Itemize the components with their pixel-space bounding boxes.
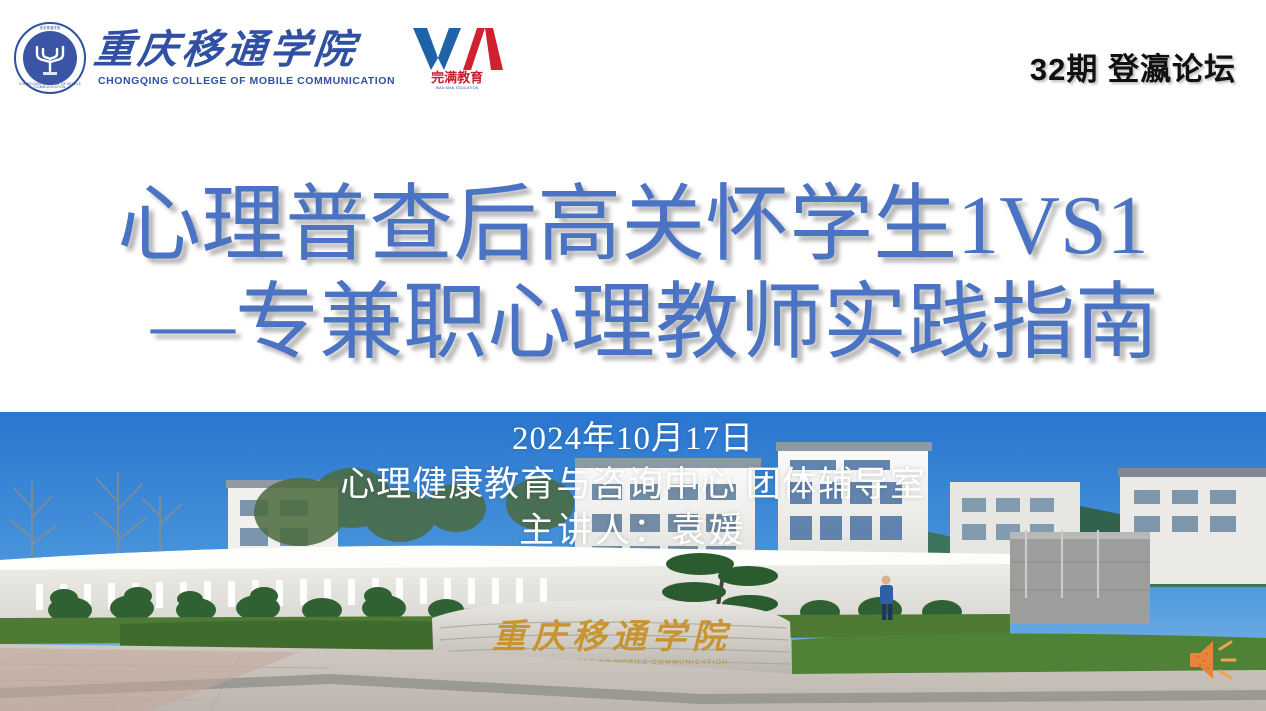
- vm-wordmark-icon: [411, 26, 503, 70]
- title-line-2: —专兼职心理教师实践指南: [107, 275, 1159, 373]
- campus-photo: 重庆移通学院 CHONGQING COLLEGE OF MOBILE COMMU…: [0, 412, 1266, 711]
- seal-micro-text-top: 重庆移通学院: [14, 27, 86, 30]
- partner-name-en: WAN MAN EDUCATION: [436, 86, 479, 90]
- university-brand-lockup: 重庆移通学院 CHONGQING COLLEGE OF MOBILE COMMU…: [14, 22, 505, 94]
- slide-header: 重庆移通学院 CHONGQING COLLEGE OF MOBILE COMMU…: [0, 0, 1266, 120]
- school-name-cn: 重庆移通学院: [92, 30, 397, 70]
- partner-name-cn: 完满教育: [431, 71, 483, 84]
- forum-session-tag: 32期 登瀛论坛: [1030, 44, 1236, 89]
- presentation-title: 心理普查后高关怀学生1VS1 —专兼职心理教师实践指南: [0, 150, 1266, 400]
- seal-emblem-icon: [30, 38, 70, 78]
- school-name-en: CHONGQING COLLEGE OF MOBILE COMMUNICATIO…: [94, 75, 395, 87]
- campus-photo-illustration: 重庆移通学院 CHONGQING COLLEGE OF MOBILE COMMU…: [0, 412, 1266, 711]
- speaker-volume-icon[interactable]: [1186, 637, 1238, 683]
- slide-root: 重庆移通学院 CHONGQING COLLEGE OF MOBILE COMMU…: [0, 0, 1266, 711]
- seal-micro-text-bottom: CHONGQING COLLEGE OF MOBILE COMMUNICATIO…: [14, 83, 86, 89]
- university-seal-icon: 重庆移通学院 CHONGQING COLLEGE OF MOBILE COMMU…: [14, 22, 86, 94]
- school-name-stack: 重庆移通学院 CHONGQING COLLEGE OF MOBILE COMMU…: [94, 30, 395, 87]
- title-line-1: 心理普查后高关怀学生1VS1: [117, 177, 1148, 275]
- partner-logo-vm: 完满教育 WAN MAN EDUCATION: [409, 23, 505, 93]
- svg-text:重庆移通学院: 重庆移通学院: [492, 618, 732, 656]
